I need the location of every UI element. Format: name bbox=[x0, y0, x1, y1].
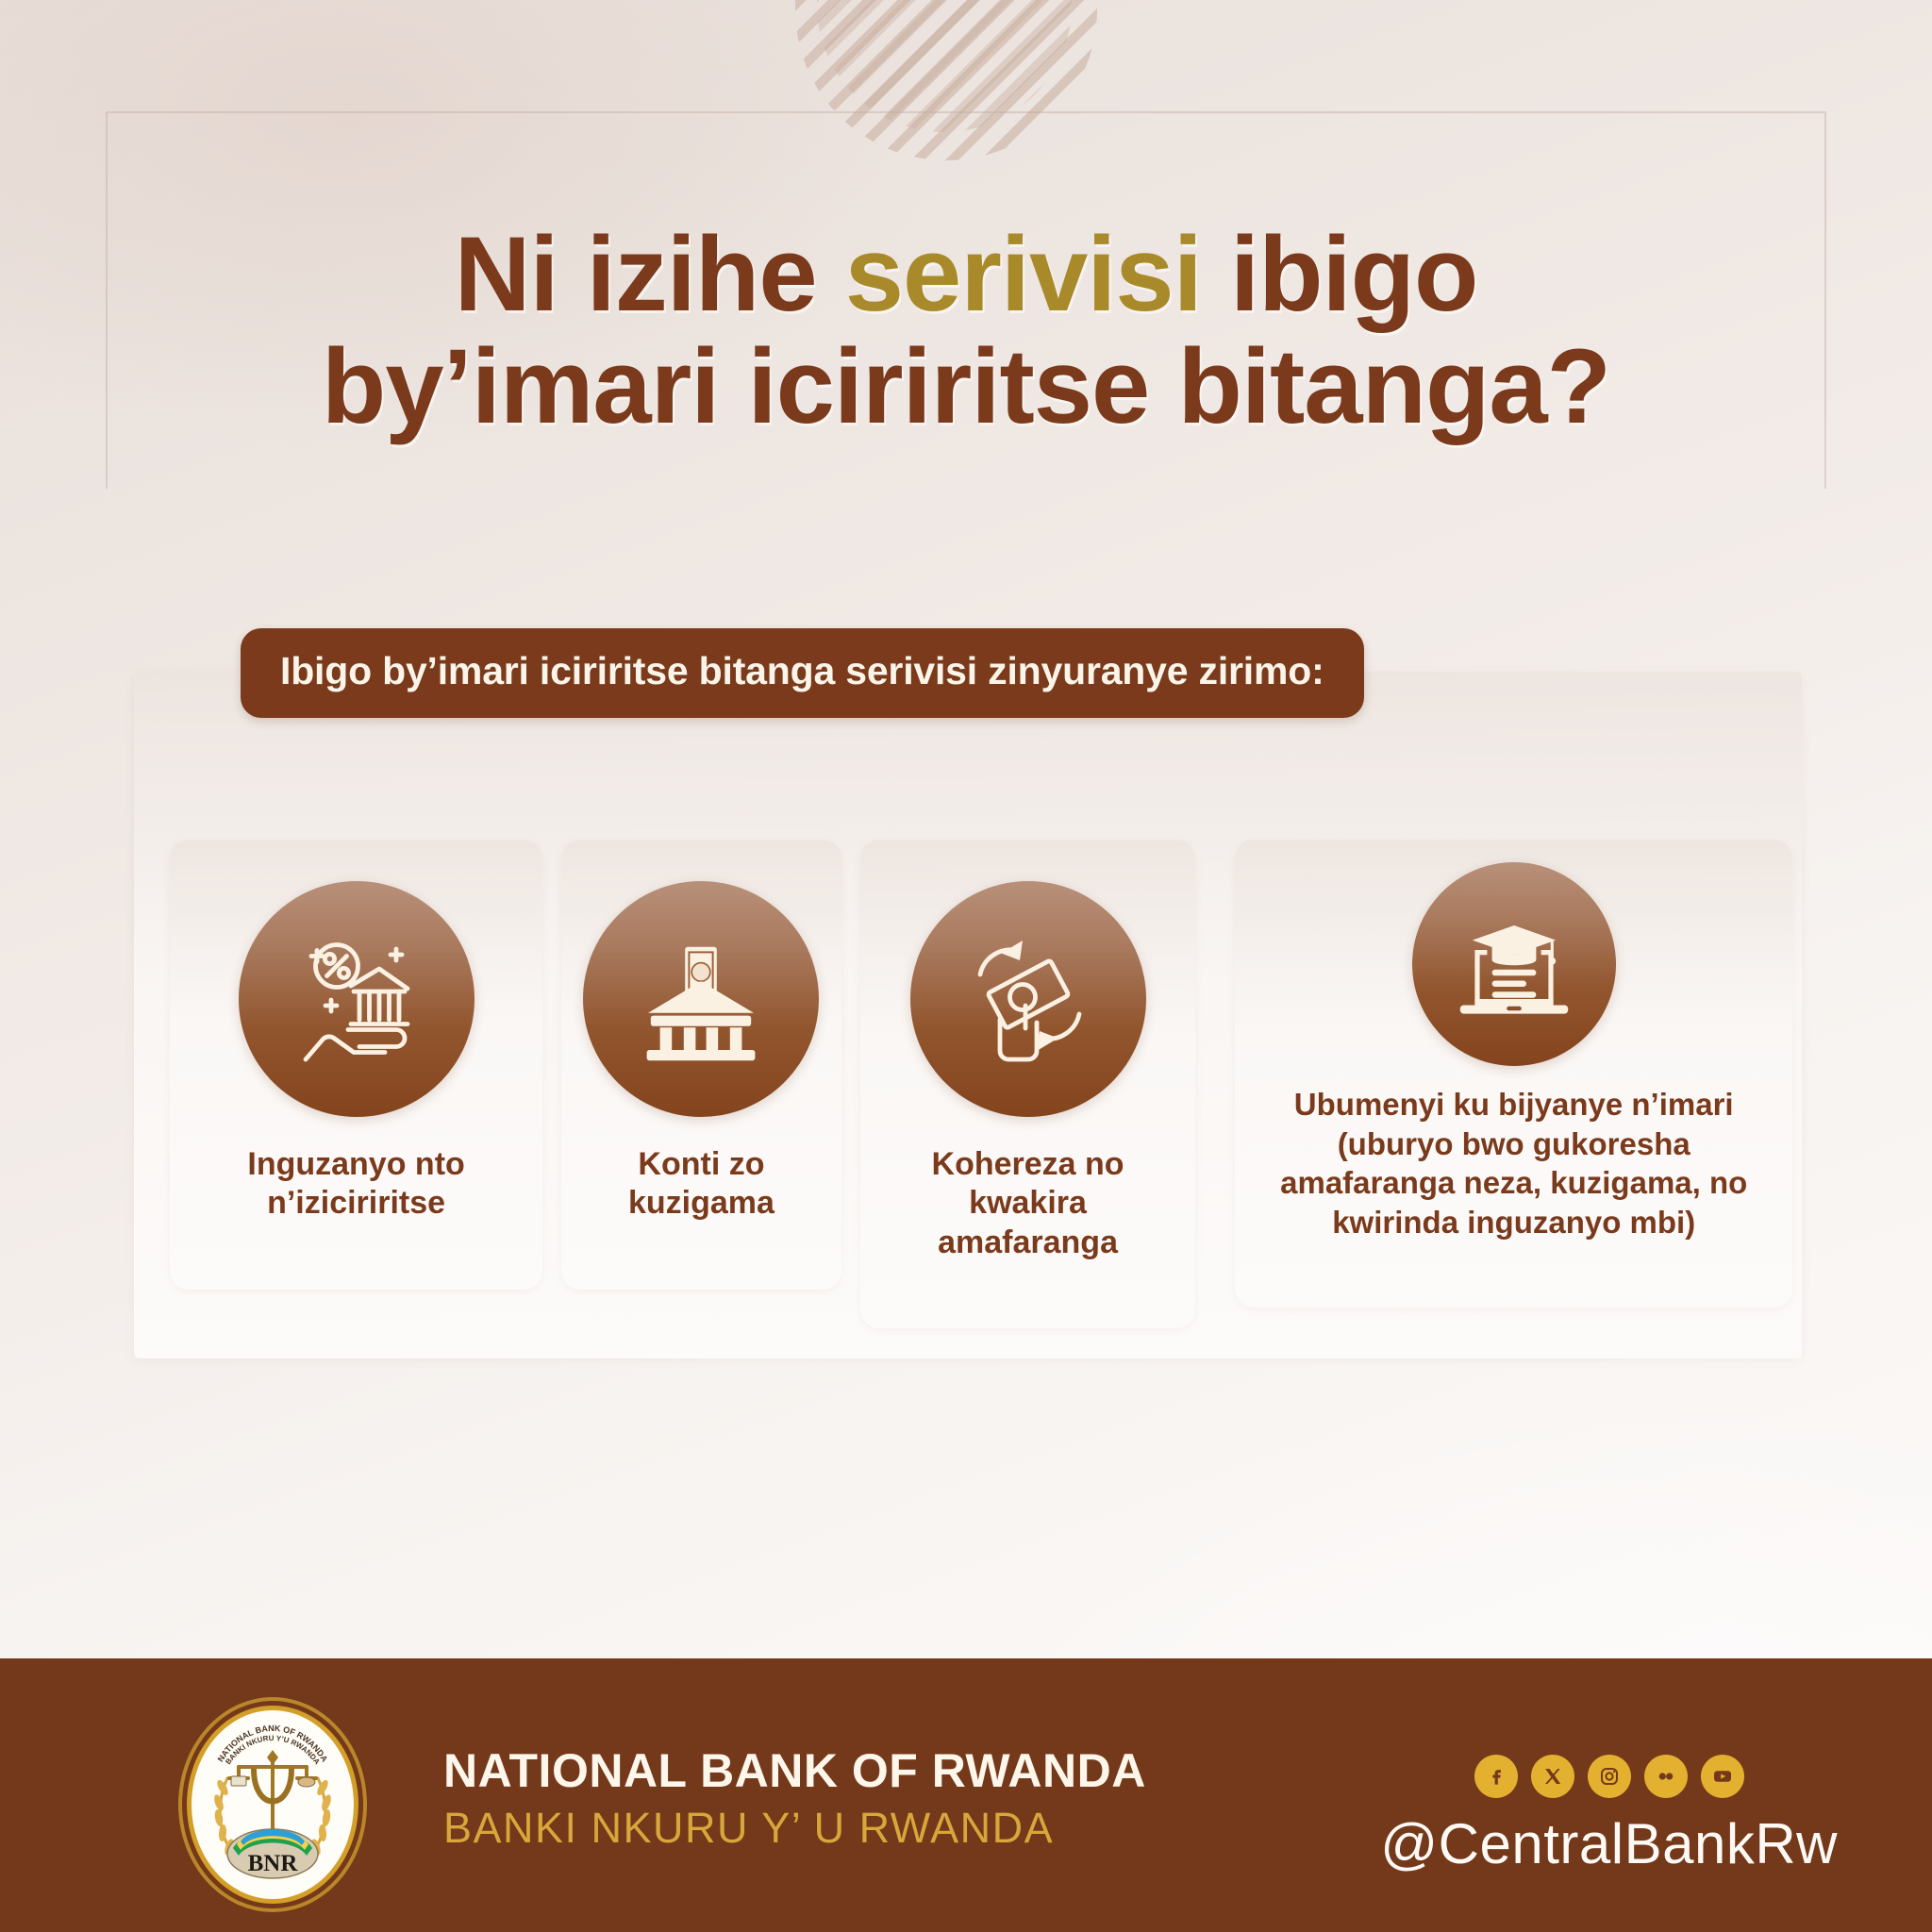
bank-with-banknote-icon bbox=[635, 931, 767, 1068]
social-handle: @CentralBankRw bbox=[1380, 1811, 1838, 1876]
poster-canvas: Ni izihe serivisi ibigo by’imari iciriri… bbox=[0, 0, 1932, 1932]
service-card-label: Kohereza no kwakira amafaranga bbox=[932, 1145, 1124, 1262]
icon-badge bbox=[239, 881, 475, 1117]
instagram-icon[interactable] bbox=[1588, 1755, 1631, 1798]
facebook-icon[interactable] bbox=[1474, 1755, 1518, 1798]
page-title: Ni izihe serivisi ibigo by’imari iciriri… bbox=[0, 219, 1932, 442]
title-part-pre: Ni izihe bbox=[455, 215, 845, 333]
bnr-logo: NATIONAL BANK OF RWANDA BANKI NKURU Y’U … bbox=[187, 1706, 358, 1904]
service-card-micro-loans[interactable]: Inguzanyo nto n’iziciriritse bbox=[170, 840, 542, 1290]
title-part-post: ibigo bbox=[1202, 215, 1478, 333]
social-block: @CentralBankRw bbox=[1380, 1755, 1838, 1876]
title-part-accent: serivisi bbox=[845, 215, 1202, 333]
service-cards-row: Inguzanyo nto n’iziciriritse bbox=[170, 840, 1792, 1328]
icon-badge bbox=[583, 881, 819, 1117]
service-card-label: Inguzanyo nto n’iziciriritse bbox=[247, 1145, 464, 1224]
title-line-2: by’imari iciriritse bitanga? bbox=[0, 331, 1932, 443]
title-line-1: Ni izihe serivisi ibigo bbox=[0, 219, 1932, 331]
service-card-label: Ubumenyi ku bijyanye n’imari (uburyo bwo… bbox=[1280, 1085, 1747, 1241]
social-icons-row bbox=[1474, 1755, 1744, 1798]
svg-text:BNR: BNR bbox=[248, 1851, 299, 1876]
x-twitter-icon[interactable] bbox=[1531, 1755, 1574, 1798]
service-card-label: Konti zo kuzigama bbox=[628, 1145, 774, 1224]
footer-brand: NATIONAL BANK OF RWANDA BANKI NKURU Y’ U… bbox=[443, 1743, 1146, 1853]
hand-money-transfer-arrows-icon bbox=[958, 926, 1099, 1073]
icon-badge bbox=[1412, 862, 1616, 1066]
service-card-savings-accounts[interactable]: Konti zo kuzigama bbox=[561, 840, 841, 1290]
bnr-logo-artwork: NATIONAL BANK OF RWANDA BANKI NKURU Y’U … bbox=[192, 1710, 354, 1899]
youtube-icon[interactable] bbox=[1701, 1755, 1744, 1798]
service-card-financial-education[interactable]: Ubumenyi ku bijyanye n’imari (uburyo bwo… bbox=[1235, 840, 1792, 1307]
brand-name-english: NATIONAL BANK OF RWANDA bbox=[443, 1743, 1146, 1798]
laptop-graduation-cap-icon bbox=[1453, 901, 1575, 1028]
flickr-icon[interactable] bbox=[1644, 1755, 1688, 1798]
icon-badge bbox=[910, 881, 1146, 1117]
brand-name-kinyarwanda: BANKI NKURU Y’ U RWANDA bbox=[443, 1804, 1146, 1853]
hand-holding-bank-percent-icon bbox=[286, 926, 427, 1073]
services-banner-label: Ibigo by’imari iciriritse bitanga serivi… bbox=[241, 628, 1364, 718]
service-card-send-receive-money[interactable]: Kohereza no kwakira amafaranga bbox=[860, 840, 1196, 1328]
